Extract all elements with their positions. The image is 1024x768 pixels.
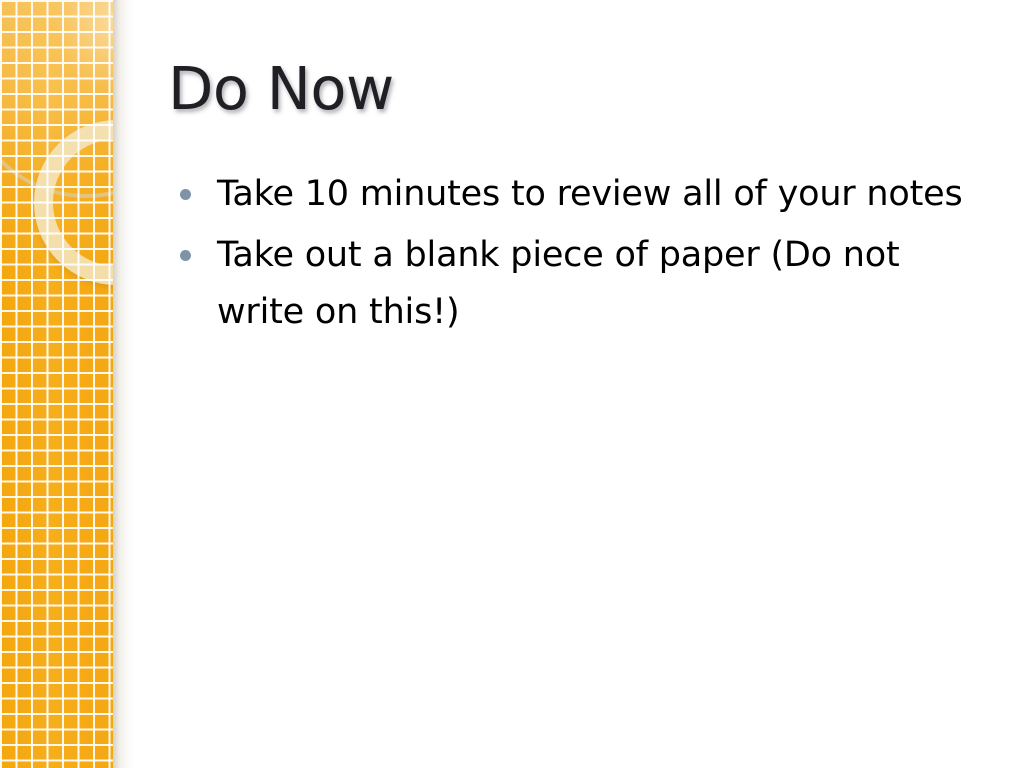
list-item-text: Take out a blank piece of paper (Do not … bbox=[217, 235, 900, 332]
slide-content: Do Now Take 10 minutes to review all of … bbox=[168, 0, 988, 768]
bullet-marker-icon bbox=[180, 189, 191, 200]
page-title: Do Now bbox=[168, 54, 394, 123]
orange-grid-sidebar bbox=[0, 0, 113, 768]
list-item: Take out a blank piece of paper (Do not … bbox=[176, 227, 976, 341]
bullet-list: Take 10 minutes to review all of your no… bbox=[176, 166, 976, 345]
presentation-slide: Do Now Take 10 minutes to review all of … bbox=[0, 0, 1024, 768]
sidebar-grid-overlay bbox=[0, 0, 113, 768]
bullet-marker-icon bbox=[180, 250, 191, 261]
list-item-text: Take 10 minutes to review all of your no… bbox=[217, 174, 963, 214]
list-item: Take 10 minutes to review all of your no… bbox=[176, 166, 976, 223]
sidebar-drop-shadow bbox=[113, 0, 135, 768]
